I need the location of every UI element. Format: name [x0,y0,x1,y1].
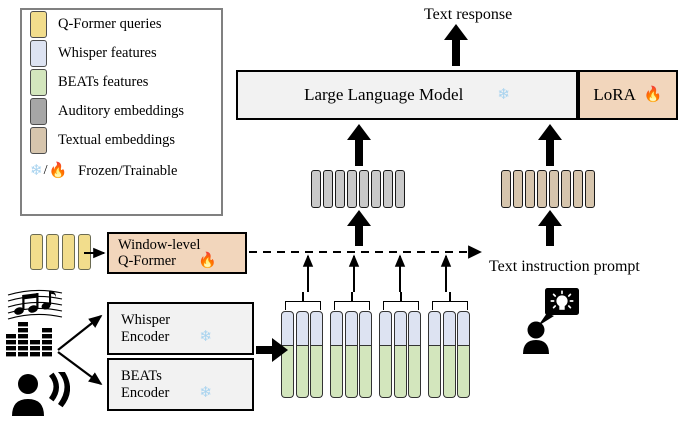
beats-feature-cell [379,346,392,398]
textual-embedding-token [501,170,511,208]
legend-item-label: Auditory embeddings [58,104,184,119]
beats-feature-cell [443,346,456,398]
beats-feature-cell [428,346,441,398]
feature-window [330,311,372,398]
legend-item-label: Textual embeddings [58,133,175,148]
auditory-embedding-token [335,170,345,208]
whisper-feature-cell [296,311,309,346]
person-idea-bubble-icon [523,288,579,359]
legend-item-frozen-trainable: ❄ / 🔥 Frozen/Trainable [30,155,221,187]
beats-encoder-line1: BEATs [121,368,252,385]
feature-column [359,311,372,398]
beats-feature-cell [310,346,323,398]
whisper-encoder-line2: Encoder [121,329,169,346]
legend-item-beats-features: BEATs features [30,68,221,97]
beats-feature-cell [330,346,343,398]
whisper-feature-cell [281,311,294,346]
fire-icon: 🔥 [48,164,67,179]
separator-slash: / [44,163,48,179]
whisper-feature-cell [379,311,392,346]
snowflake-icon: ❄ [199,386,212,401]
textual-embeddings-strip [501,170,595,208]
beats-encoder-block[interactable]: BEATs Encoder ❄ [107,358,254,411]
feature-column [408,311,421,398]
whisper-feature-cell [394,311,407,346]
q-former-queries-strip [30,234,91,270]
text-instruction-prompt-label: Text instruction prompt [489,258,640,276]
swatch-green-icon [30,69,47,96]
feature-column [394,311,407,398]
auditory-embedding-token [395,170,405,208]
equalizer-icon [6,320,60,365]
auditory-embedding-token [383,170,393,208]
feature-column [379,311,392,398]
legend-item-label: Q-Former queries [58,17,161,32]
q-former-query-token [30,234,43,270]
auditory-embedding-token [359,170,369,208]
feature-column [428,311,441,398]
snowflake-icon: ❄ [30,164,43,179]
legend-item-label: BEATs features [58,75,148,90]
legend-item-label: Whisper features [58,46,157,61]
legend-panel: Q-Former queries Whisper features BEATs … [20,8,223,216]
textual-embedding-token [513,170,523,208]
lora-title: LoRA [593,85,636,105]
auditory-embedding-token [311,170,321,208]
large-language-model-block[interactable]: Large Language Model ❄ [236,70,578,120]
feature-column [330,311,343,398]
auditory-embedding-token [371,170,381,208]
whisper-feature-cell [408,311,421,346]
beats-feature-cell [359,346,372,398]
swatch-tan-icon [30,127,47,154]
textual-embedding-token [561,170,571,208]
feature-window [281,311,323,398]
swatch-yellow-icon [30,11,47,38]
textual-embedding-token [525,170,535,208]
lora-block[interactable]: LoRA 🔥 [578,70,678,120]
swatch-gray-icon [30,98,47,125]
fire-icon: 🔥 [198,254,217,269]
llm-row: Large Language Model ❄ LoRA 🔥 [236,70,678,120]
legend-item-q-former-queries: Q-Former queries [30,10,221,39]
arrow-llm-to-text-response [444,24,468,66]
textual-embedding-token [573,170,583,208]
window-bracket [334,301,370,310]
q-former-query-token [62,234,75,270]
q-former-line1: Window-level [118,237,245,253]
beats-feature-cell [345,346,358,398]
whisper-encoder-line1: Whisper [121,312,252,329]
window-bracket [383,301,419,310]
window-bracket-stem [449,292,451,302]
textual-embedding-token [585,170,595,208]
fire-icon: 🔥 [644,88,663,103]
textual-embedding-token [549,170,559,208]
feature-windows [281,311,470,398]
feature-column [457,311,470,398]
window-bracket-stem [400,292,402,302]
person-speaking-icon [8,372,70,421]
whisper-feature-cell [443,311,456,346]
whisper-feature-cell [345,311,358,346]
feature-window [428,311,470,398]
window-bracket-stem [351,292,353,302]
llm-title: Large Language Model [304,85,463,105]
legend-item-whisper-features: Whisper features [30,39,221,68]
feature-column [345,311,358,398]
beats-feature-cell [296,346,309,398]
textual-embedding-token [537,170,547,208]
arrow-audio-to-whisper-encoder [58,316,101,350]
frozen-trainable-icons: ❄ / 🔥 [30,163,67,179]
whisper-encoder-block[interactable]: Whisper Encoder ❄ [107,302,254,355]
snowflake-icon: ❄ [199,330,212,345]
q-former-query-token [78,234,91,270]
window-bracket [432,301,468,310]
feature-column [296,311,309,398]
whisper-feature-cell [457,311,470,346]
feature-column [281,311,294,398]
q-former-query-token [46,234,59,270]
arrow-qformer-to-auditory [347,210,371,246]
legend-item-auditory-embeddings: Auditory embeddings [30,97,221,126]
auditory-embedding-token [323,170,333,208]
window-level-q-former-block[interactable]: Window-level Q-Former 🔥 [107,232,247,274]
text-response-label: Text response [424,6,512,24]
feature-column [310,311,323,398]
whisper-feature-cell [359,311,372,346]
beats-encoder-line2: Encoder [121,385,169,402]
whisper-feature-cell [330,311,343,346]
snowflake-icon: ❄ [497,88,510,103]
legend-item-textual-embeddings: Textual embeddings [30,126,221,155]
beats-feature-cell [394,346,407,398]
beats-feature-cell [408,346,421,398]
legend-item-label: Frozen/Trainable [78,164,177,179]
swatch-blue-icon [30,40,47,67]
beats-feature-cell [281,346,294,398]
window-bracket-stem [302,292,304,302]
auditory-embedding-token [347,170,357,208]
q-former-line2: Q-Former [118,253,176,269]
arrow-textual-to-llm [538,124,562,166]
whisper-feature-cell [428,311,441,346]
window-bracket [285,301,321,310]
arrow-auditory-to-llm [347,124,371,166]
feature-window [379,311,421,398]
arrow-prompt-to-textual [538,210,562,246]
feature-column [443,311,456,398]
beats-feature-cell [457,346,470,398]
whisper-feature-cell [310,311,323,346]
auditory-embeddings-strip [311,170,405,208]
